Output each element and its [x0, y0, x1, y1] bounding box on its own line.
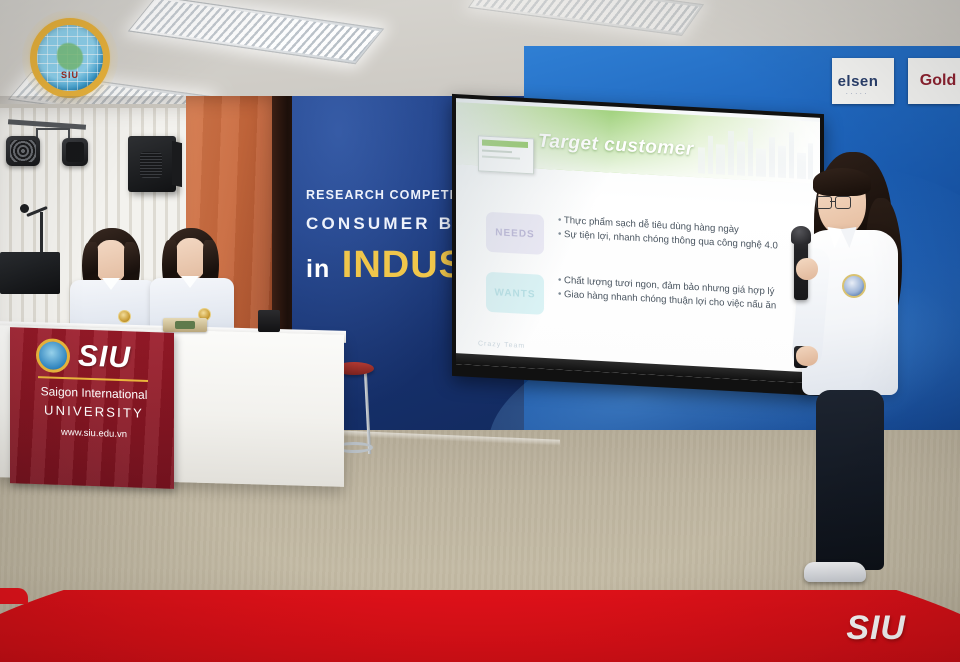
sponsor-label: Gold [920, 72, 956, 90]
name-plate [163, 318, 207, 332]
sponsor-dots: ..... [846, 90, 869, 96]
presenter-badge [842, 274, 866, 298]
eyeglasses-icon [816, 196, 854, 207]
sneaker [804, 562, 866, 582]
sponsor-logo-gold: Gold [908, 58, 960, 104]
stage-light-icon [62, 138, 88, 166]
slide-surface: Target customer NEEDS Thực phẩm sạch dễ … [456, 98, 820, 384]
projection-screen: Target customer NEEDS Thực phẩm sạch dễ … [452, 94, 824, 396]
ceiling-light-icon [468, 0, 704, 36]
sponsor-label: elsen [838, 73, 879, 90]
equipment-case [0, 252, 60, 294]
ceiling-light-icon [128, 0, 384, 64]
stage-light-icon [6, 136, 40, 166]
footer-brand-bar: SIU [0, 590, 960, 662]
sponsor-logo-nielsen: elsen ..... [832, 58, 894, 104]
footer-bar-left-accent [0, 588, 28, 604]
footer-siu-wordmark: SIU [846, 609, 906, 648]
banner-line-3-small: in [306, 255, 330, 283]
siu-seal-icon [36, 338, 70, 373]
presentation-photo-scene: SIU RESEARCH COMPETITION OI CONSUMER BE … [0, 0, 960, 662]
banner-line-3-big: INDUS [342, 244, 465, 286]
seated-student-left [68, 228, 160, 338]
uniform-badge [118, 310, 131, 323]
speaker-icon [128, 136, 176, 192]
student-presenter [780, 150, 920, 598]
microphone-icon [20, 204, 29, 213]
siu-wordmark: SIU [78, 340, 131, 376]
crest-letters: SIU [61, 70, 79, 80]
siu-crest-logo: SIU [22, 10, 118, 106]
siu-table-banner: SIU Saigon International UNIVERSITY www.… [10, 327, 174, 489]
small-black-device [258, 310, 280, 332]
